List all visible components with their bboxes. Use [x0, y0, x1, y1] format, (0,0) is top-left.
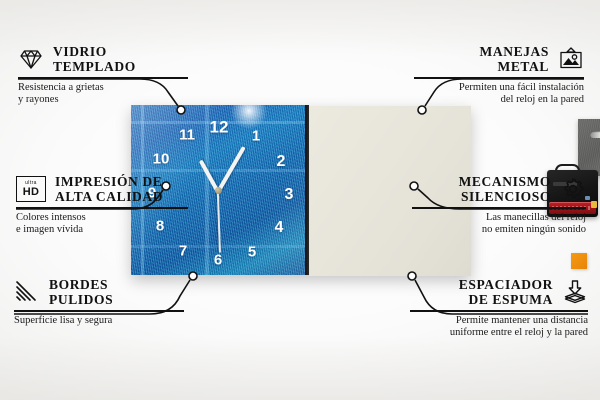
callout-title: ESPACIADOR DE ESPUMA	[459, 277, 553, 307]
callout-impresion-alta-calidad: ultra HD IMPRESIÓN DE ALTA CALIDAD Color…	[16, 174, 188, 237]
clock-numeral: 10	[153, 152, 170, 167]
clock-numeral: 4	[275, 220, 284, 236]
hanger-slot	[590, 131, 600, 138]
clock-second-hand	[217, 191, 221, 253]
callout-vidrio-templado: VIDRIO TEMPLADO Resistencia a grietas y …	[18, 44, 188, 107]
foam-spacer-arrow-icon	[562, 279, 588, 305]
callout-description: Las manecillas del reloj no emiten ningú…	[412, 212, 586, 237]
clock-numeral: 3	[285, 187, 294, 203]
callout-rule	[16, 207, 188, 209]
callout-mecanismo-silencioso: MECANISMO SILENCIOSO Las manecillas del …	[412, 174, 586, 237]
clock-numeral: 5	[248, 245, 256, 260]
callout-rule	[410, 310, 588, 312]
hd-label: HD	[23, 187, 40, 198]
callout-description: Colores intensos e imagen vívida	[16, 212, 188, 237]
ultra-label: ultra	[25, 181, 37, 186]
callout-title: BORDES PULIDOS	[49, 277, 113, 307]
gear-icon	[560, 176, 586, 202]
callout-description: Superficie lisa y segura	[14, 315, 184, 328]
clock-numeral: 6	[214, 253, 222, 268]
callout-header: ultra HD IMPRESIÓN DE ALTA CALIDAD	[16, 174, 188, 204]
callout-title: IMPRESIÓN DE ALTA CALIDAD	[55, 174, 163, 204]
callout-espaciador-espuma: ESPACIADOR DE ESPUMA Permite mantener un…	[410, 277, 588, 340]
clock-minute-hand	[216, 146, 245, 193]
clock-center-cap	[215, 187, 222, 194]
ultra-hd-badge-icon: ultra HD	[16, 176, 46, 202]
callout-header: VIDRIO TEMPLADO	[18, 44, 188, 74]
callout-header: BORDES PULIDOS	[14, 277, 184, 307]
diamond-icon	[18, 46, 44, 72]
callout-description: Resistencia a grietas y rayones	[18, 82, 188, 107]
picture-hanger-icon	[558, 46, 584, 72]
infographic-canvas: 12 1 2 3 4 5 6 7 8 9 10 11	[0, 0, 600, 400]
foam-spacer	[571, 253, 587, 269]
callout-bordes-pulidos: BORDES PULIDOS Superficie lisa y segura	[14, 277, 184, 327]
callout-title: MECANISMO SILENCIOSO	[459, 174, 551, 204]
callout-rule	[18, 77, 188, 79]
metal-hanger-plate	[578, 119, 600, 176]
clock-numeral: 1	[252, 129, 260, 144]
callout-rule	[412, 207, 586, 209]
clock-numeral: 2	[277, 154, 286, 170]
battery-terminal	[591, 201, 597, 208]
callout-rule	[14, 310, 184, 312]
callout-manejas-metal: MANEJAS METAL Permiten una fácil instala…	[414, 44, 584, 107]
callout-title: VIDRIO TEMPLADO	[53, 44, 136, 74]
clock-numeral: 11	[179, 128, 195, 143]
callout-description: Permite mantener una distancia uniforme …	[410, 315, 588, 340]
clock-numeral: 7	[179, 244, 187, 259]
callout-header: MECANISMO SILENCIOSO	[412, 174, 586, 204]
callout-header: ESPACIADOR DE ESPUMA	[410, 277, 588, 307]
clock-numeral: 12	[210, 119, 229, 136]
callout-description: Permiten una fácil instalación del reloj…	[414, 82, 584, 107]
callout-rule	[414, 77, 584, 79]
callout-header: MANEJAS METAL	[414, 44, 584, 74]
polished-edges-icon	[14, 279, 40, 305]
callout-title: MANEJAS METAL	[480, 44, 549, 74]
